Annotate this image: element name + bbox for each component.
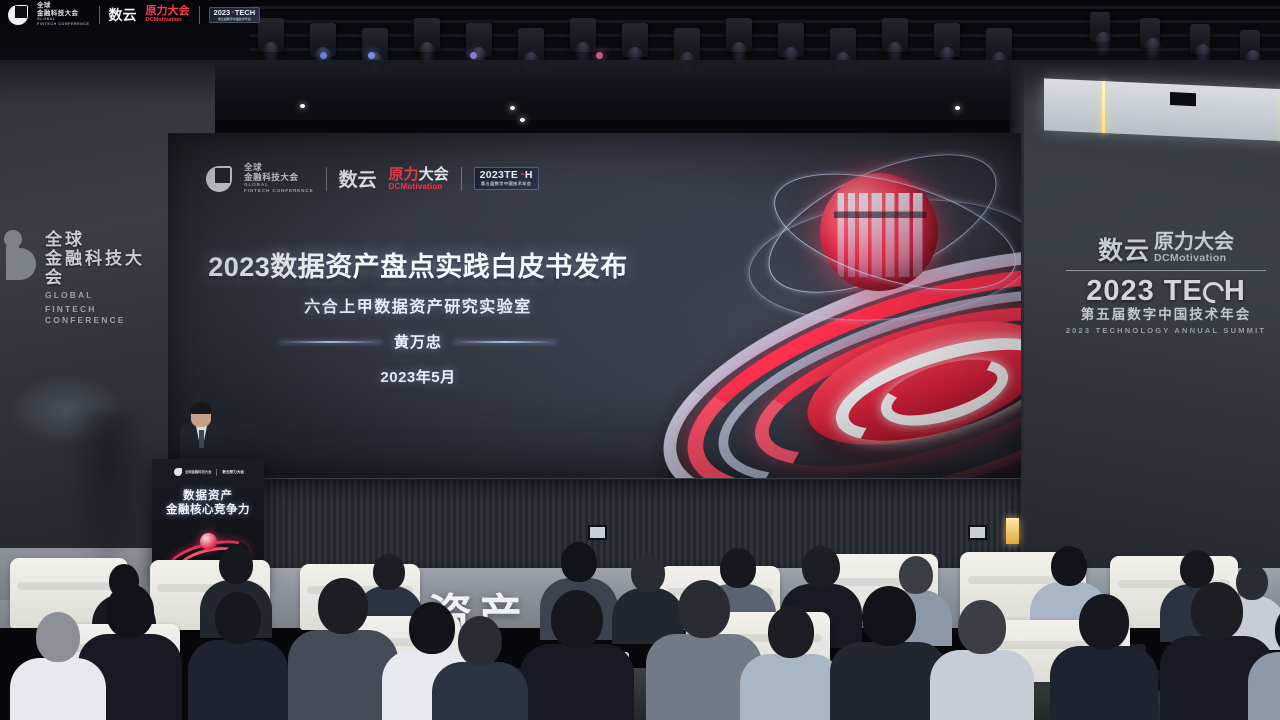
light-beam-dot: [368, 52, 375, 59]
title-rule-left: [279, 341, 382, 343]
ceiling-lamp: [520, 118, 525, 122]
truss-bar: [250, 20, 1280, 23]
audience-member: [930, 600, 1034, 720]
right-wall-shuyun: 数云: [1098, 238, 1150, 264]
conference-photo: 全球 金融科技大会 GLOBAL FINTECH CONFERENCE 数云 原…: [0, 0, 1280, 720]
audience-member: [520, 590, 634, 720]
podium-logo-cn: 全球金融科技大会: [185, 470, 211, 474]
stage-light-fixture: [986, 28, 1012, 62]
audience-member: [188, 592, 288, 720]
truss-bar: [250, 6, 1280, 9]
panel-speaker-box: [1170, 92, 1196, 106]
right-wall-yuanli-en: DCMotivation: [1154, 252, 1234, 264]
stage-light-fixture: [258, 18, 284, 52]
left-wall-cn-line2: 金融科技大会: [45, 249, 164, 287]
light-beam-dot: [320, 52, 327, 59]
stage-light-fixture: [830, 28, 856, 62]
side-light-fixture: [1090, 12, 1110, 42]
right-wall-h: H: [1224, 275, 1246, 307]
audience-member: [432, 616, 528, 720]
overlay-gfc-cn1: 全球: [37, 2, 90, 10]
light-beam-dot: [596, 52, 603, 59]
stage-light-fixture: [934, 23, 960, 57]
gfc-logo-icon-overlay: [8, 5, 28, 25]
gfc-logo-icon: [4, 230, 38, 280]
left-wall-en-line2: FINTECH CONFERENCE: [45, 304, 164, 326]
stage-light-fixture: [674, 28, 700, 62]
broadcast-watermark: 全球 金融科技大会 GLOBAL FINTECH CONFERENCE 数云 原…: [8, 2, 260, 27]
stage-light-fixture: [466, 23, 492, 57]
audience-member: [1248, 604, 1280, 720]
podium-line-1: 数据资产: [152, 489, 264, 503]
truss-bar: [250, 48, 1280, 51]
ceiling-lamp: [955, 106, 960, 110]
presentation-subtitle: 六合上甲数据资产研究实验室: [208, 297, 628, 319]
overlay-tech-badge: 2023◔TECH 第五届数字中国技术年会: [209, 7, 261, 23]
stage-light-fixture: [362, 28, 388, 62]
tech-swirl-icon: [1203, 282, 1224, 303]
logo-divider-2: [461, 167, 462, 191]
screen-title-block: 2023数据资产盘点实践白皮书发布 六合上甲数据资产研究实验室 黄万忠 2023…: [208, 251, 628, 387]
light-beam-dot: [470, 52, 477, 59]
ceiling-lamp: [510, 106, 515, 110]
right-wall-tech-line: 2023 TEH: [1062, 276, 1270, 306]
stage-light-fixture: [622, 23, 648, 57]
stage-light-fixture: [414, 18, 440, 52]
logo-divider-1: [326, 167, 327, 191]
left-wall-branding: 全球 金融科技大会 GLOBAL FINTECH CONFERENCE: [4, 228, 164, 320]
badge-sub: 第五届数字中国技术年会: [480, 181, 533, 187]
podium-logo-divider: [216, 469, 217, 476]
podium-line-2: 金融核心竞争力: [152, 503, 264, 518]
overlay-yuanli-cn: 原力大会: [146, 6, 190, 17]
overlay-badge-sub: 第五届数字中国技术年会: [214, 17, 256, 21]
screen-logo-bar: 全球 金融科技大会 GLOBAL FINTECH CONFERENCE 数云 原…: [206, 163, 539, 194]
podium-logo-bar: 全球金融科技大会 数云原力大会: [174, 468, 244, 476]
right-wall-divider: [1066, 270, 1266, 271]
badge-te: TE: [504, 169, 518, 181]
right-wall-sub-en: 2023 TECHNOLOGY ANNUAL SUMMIT: [1062, 325, 1270, 336]
screen-gfc-cn2: 金融科技大会: [244, 173, 314, 183]
podium-logo-right: 数云原力大会: [222, 470, 244, 475]
side-light-fixture: [1190, 24, 1210, 54]
screen-yuanli-en: DCMotivation: [389, 182, 449, 191]
badge-year: 2023: [480, 169, 505, 181]
overlay-yuanli-en: DCMotivation: [146, 17, 190, 24]
audience-member: [1050, 594, 1158, 720]
badge-h: H: [525, 169, 533, 181]
podium-gfc-icon: [174, 468, 182, 476]
gfc-logo-icon-screen: [206, 166, 232, 192]
side-light-fixture: [1140, 18, 1160, 48]
left-wall-cn-line1: 全球: [45, 230, 164, 249]
overlay-badge-tech: TECH: [235, 8, 255, 17]
right-wall-yuanli-cn: 原力大会: [1154, 232, 1234, 252]
spiral-stage-graphic: [598, 143, 1021, 478]
badge-swirl-icon: ◔: [518, 169, 525, 181]
main-led-screen: 全球 金融科技大会 GLOBAL FINTECH CONFERENCE 数云 原…: [168, 133, 1021, 478]
stage-light-fixture: [882, 18, 908, 52]
presenter-name: 黄万忠: [394, 331, 442, 352]
stage-light-fixture: [778, 23, 804, 57]
right-wall-year-te: 2023 TE: [1086, 275, 1203, 307]
audience-member: [740, 606, 842, 720]
screen-yuanli-cn: 原力大会: [389, 167, 449, 182]
overlay-shuyun: 数云: [109, 5, 137, 25]
stage-light-fixture: [518, 28, 544, 62]
presentation-date: 2023年5月: [208, 366, 628, 387]
stage-light-fixture: [570, 18, 596, 52]
screen-shuyun: 数云: [339, 165, 377, 192]
overlay-divider-1: [99, 6, 100, 24]
presentation-title: 2023数据资产盘点实践白皮书发布: [208, 251, 628, 283]
ceiling-lamp: [300, 104, 305, 108]
screen-gfc-en2: FINTECH CONFERENCE: [244, 188, 314, 194]
overlay-badge-year: 2023: [214, 8, 231, 17]
stage-light-fixture: [726, 18, 752, 52]
right-wall-sub-cn: 第五届数字中国技术年会: [1062, 307, 1270, 323]
overlay-gfc-cn2: 金融科技大会: [37, 10, 90, 18]
audience-member: [10, 612, 106, 720]
overlay-divider-2: [199, 6, 200, 24]
side-light-fixture: [1240, 30, 1260, 60]
left-wall-en-line1: GLOBAL: [45, 290, 164, 301]
overlay-gfc-en2: FINTECH CONFERENCE: [37, 22, 90, 27]
right-wall-branding: 数云 原力大会 DCMotivation 2023 TEH 第五届数字中国技术年…: [1062, 232, 1270, 336]
title-rule-right: [454, 341, 557, 343]
audience-area: 中国进出口银行 中信银行 中信银行: [0, 520, 1280, 720]
screen-tech-badge: 2023TE◔H 第五届数字中国技术年会: [474, 167, 539, 190]
truss-bar: [250, 34, 1280, 37]
panel-light-strip-left: [1102, 81, 1105, 133]
